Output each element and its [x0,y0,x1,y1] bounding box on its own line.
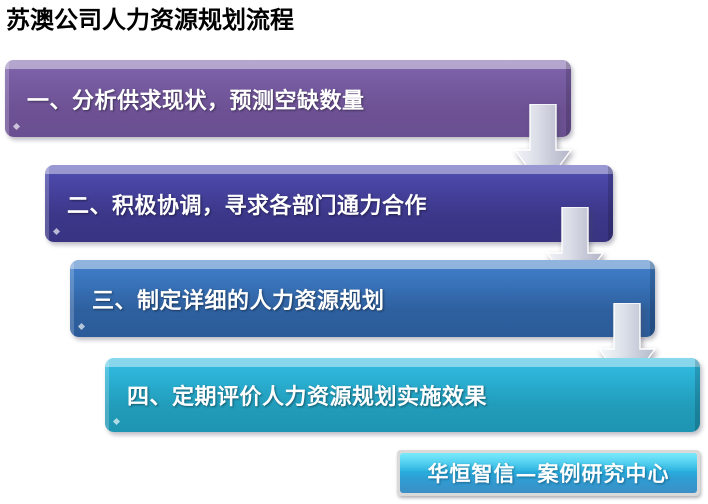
footer-badge[interactable]: 华恒智信—案例研究中心 [397,450,700,496]
box-left-edge [70,260,74,337]
box-corner-highlight [13,123,20,130]
footer-badge-label: 华恒智信—案例研究中心 [428,458,670,488]
box-left-edge [5,60,9,137]
page-title: 苏澳公司人力资源规划流程 [6,4,294,36]
flow-step-1-label: 一、分析供求现状，预测空缺数量 [27,83,365,115]
box-gloss-highlight [45,165,613,174]
box-corner-highlight [53,228,60,235]
box-left-edge [45,165,49,242]
box-corner-highlight [113,418,120,425]
flow-step-4-label: 四、定期评价人力资源规划实施效果 [127,379,487,411]
box-left-edge [105,358,109,432]
flow-step-1[interactable]: 一、分析供求现状，预测空缺数量 [5,60,571,137]
footer-badge-inner: 华恒智信—案例研究中心 [400,453,697,493]
box-corner-highlight [78,323,85,330]
flow-step-3[interactable]: 三、制定详细的人力资源规划 [70,260,655,337]
flow-step-2-label: 二、积极协调，寻求各部门通力合作 [67,188,427,220]
flow-step-3-label: 三、制定详细的人力资源规划 [92,283,385,315]
box-gloss-highlight [105,358,700,367]
box-gloss-highlight [5,60,571,69]
flow-step-4[interactable]: 四、定期评价人力资源规划实施效果 [105,358,700,432]
box-right-edge [695,358,700,432]
slide-canvas: 苏澳公司人力资源规划流程 一、分析供求现状，预测空缺数量 二、积 [0,0,708,504]
box-right-edge [608,165,613,242]
flow-step-2[interactable]: 二、积极协调，寻求各部门通力合作 [45,165,613,242]
box-gloss-highlight [70,260,655,269]
